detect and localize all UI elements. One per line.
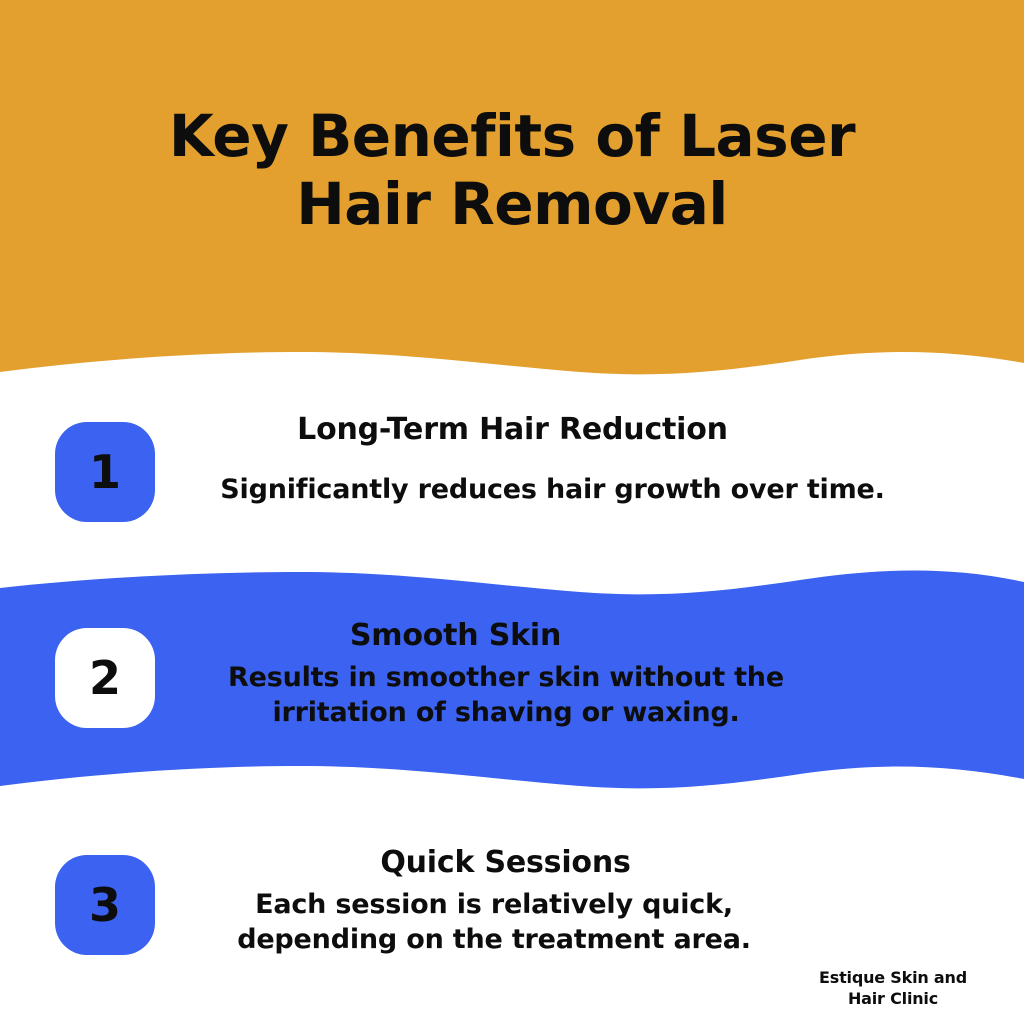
benefit-text-1: Long-Term Hair Reduction Significantly r… xyxy=(210,412,1024,508)
benefit-description-1: Significantly reduces hair growth over t… xyxy=(206,473,899,508)
footer-brand-line-1: Estique Skin and xyxy=(788,968,998,989)
footer-brand: Estique Skin and Hair Clinic xyxy=(788,968,998,1010)
benefit-item-2: 2 Smooth Skin Results in smoother skin w… xyxy=(0,618,1024,768)
benefit-text-2: Smooth Skin Results in smoother skin wit… xyxy=(210,618,1024,730)
benefit-description-3: Each session is relatively quick, depend… xyxy=(184,888,804,957)
benefit-item-1: 1 Long-Term Hair Reduction Significantly… xyxy=(0,412,1024,542)
footer-brand-line-2: Hair Clinic xyxy=(788,989,998,1010)
benefit-description-2: Results in smoother skin without the irr… xyxy=(186,661,826,730)
benefit-title-2: Smooth Skin xyxy=(12,618,899,654)
header: Key Benefits of Laser Hair Removal xyxy=(0,0,1024,340)
infographic-canvas: Key Benefits of Laser Hair Removal 1 Lon… xyxy=(0,0,1024,1024)
page-title: Key Benefits of Laser Hair Removal xyxy=(117,102,907,239)
benefit-text-3: Quick Sessions Each session is relativel… xyxy=(210,845,1024,957)
benefit-title-3: Quick Sessions xyxy=(112,845,899,881)
benefit-title-1: Long-Term Hair Reduction xyxy=(126,412,899,448)
